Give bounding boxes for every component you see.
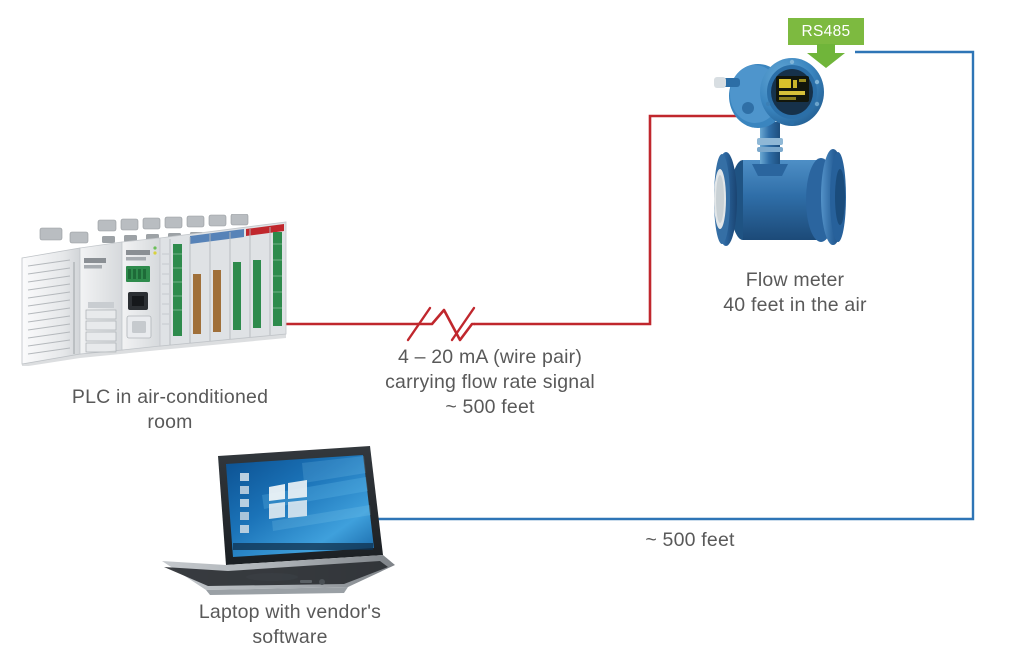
diagram-canvas: RS485: [0, 0, 1024, 659]
plc-rack: [18, 214, 298, 366]
plc-cpu-module: [122, 238, 160, 350]
left-flange: [714, 152, 737, 246]
rs485-badge-label: RS485: [788, 18, 864, 45]
wire-break-symbol: [418, 310, 474, 340]
right-flange: [821, 149, 846, 245]
taskbar: [233, 543, 373, 550]
transmitter-head: [714, 58, 824, 128]
caption-flow-meter: Flow meter 40 feet in the air: [670, 268, 920, 318]
caption-plc: PLC in air-conditioned room: [10, 385, 330, 435]
flow-meter-device: [700, 52, 870, 257]
caption-laptop: Laptop with vendor's software: [140, 600, 440, 650]
caption-blue-run-length: ~ 500 feet: [545, 528, 835, 553]
laptop-device: [152, 443, 402, 598]
meter-neck: [752, 122, 788, 176]
plc-module-2: [80, 242, 122, 354]
plc-power-supply-module: [22, 248, 80, 364]
plc-io-modules: [160, 222, 286, 346]
caption-signal-wire: 4 – 20 mA (wire pair) carrying flow rate…: [325, 345, 655, 420]
